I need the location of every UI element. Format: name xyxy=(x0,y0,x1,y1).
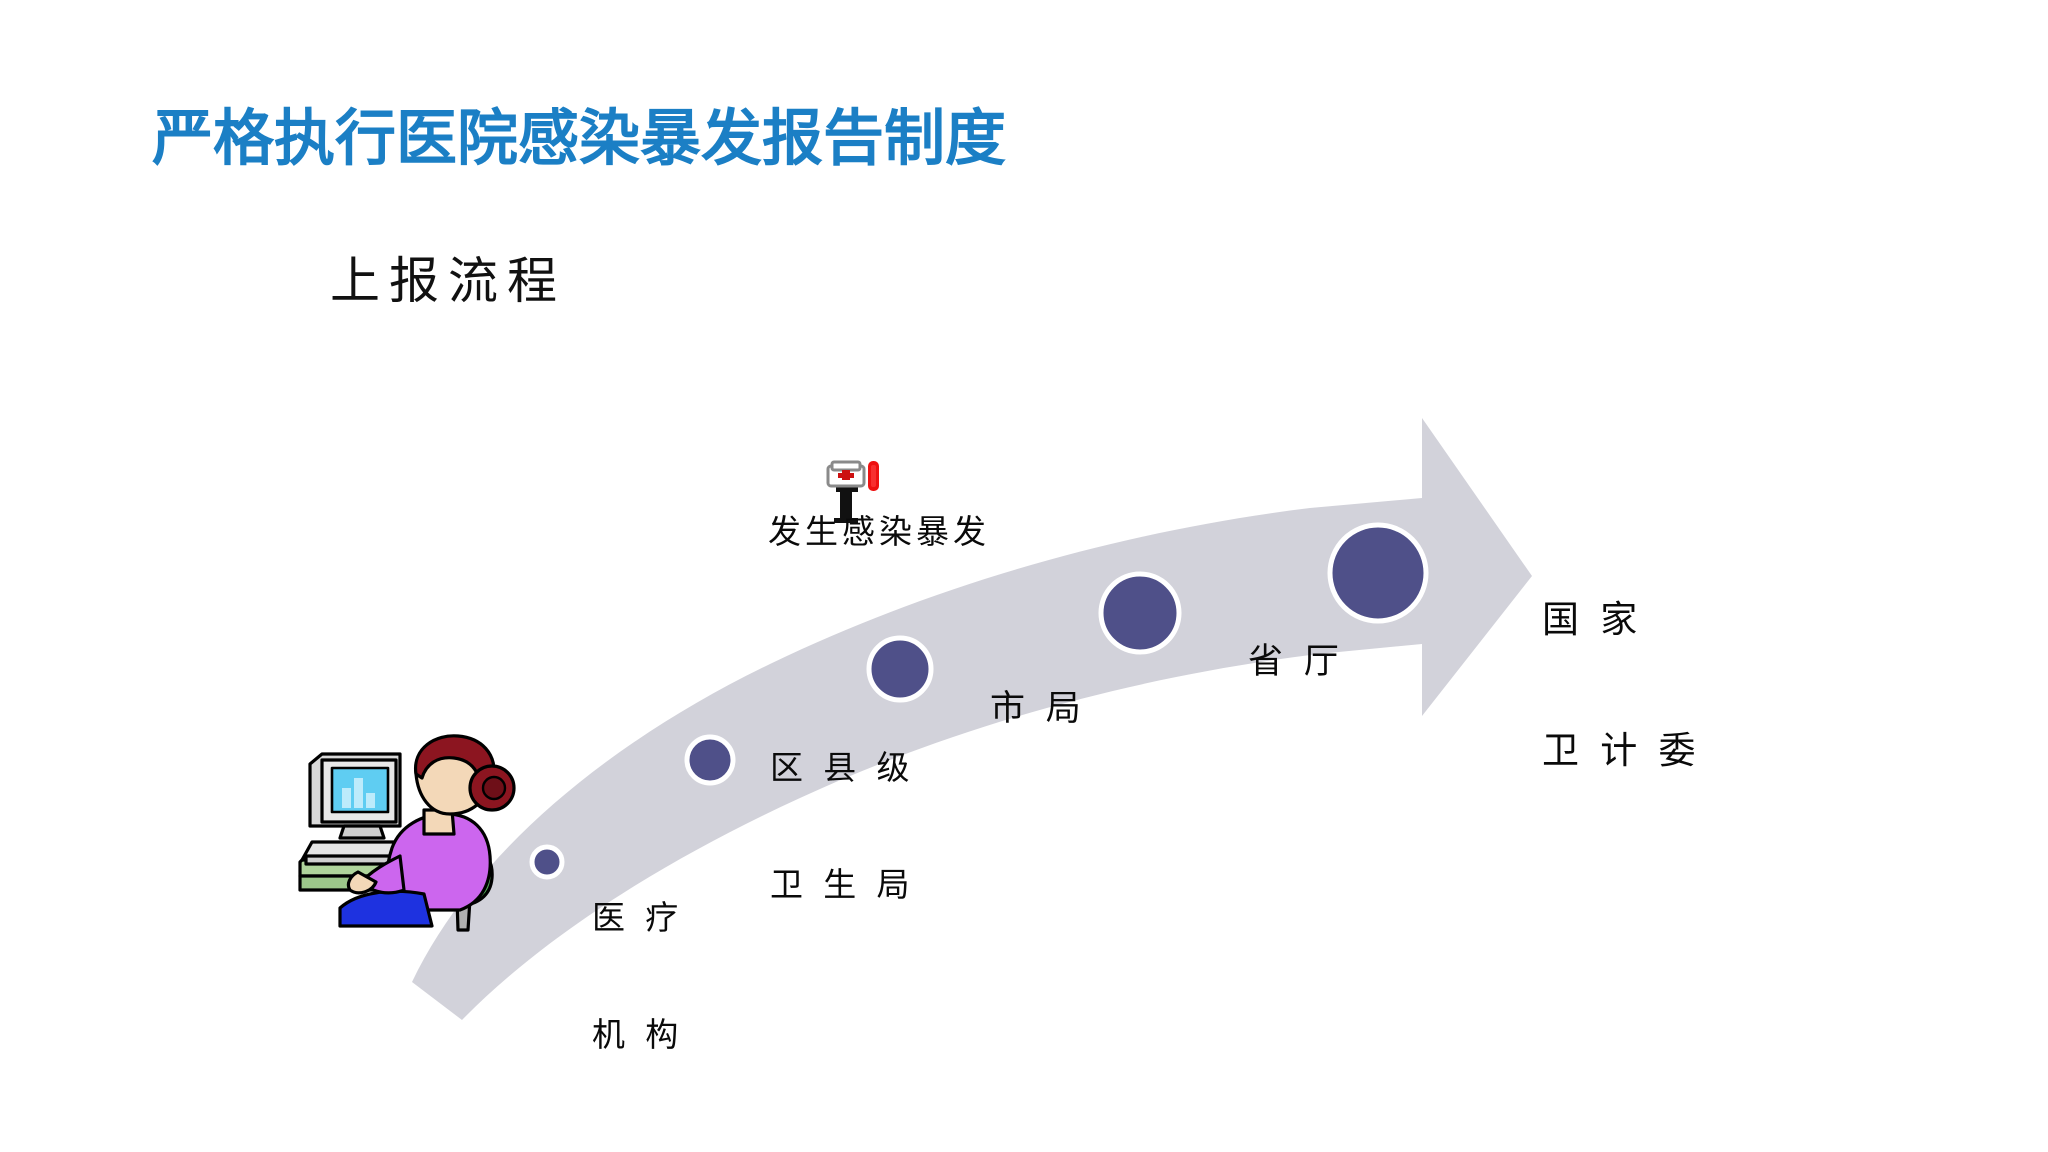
label-district-county-health-bureau: 区 县 级 卫 生 局 xyxy=(770,672,916,984)
label-line-2: 机 构 xyxy=(592,1017,684,1056)
node-medical-institution[interactable] xyxy=(532,847,562,877)
label-line-1: 医 疗 xyxy=(592,900,684,939)
label-line-1: 区 县 级 xyxy=(770,750,916,789)
flow-diagram xyxy=(0,0,2048,1152)
label-outbreak: 发生感染暴发 xyxy=(768,505,990,553)
node-provincial-department[interactable] xyxy=(1101,574,1179,652)
label-line-2: 卫 生 局 xyxy=(770,867,916,906)
label-medical-institution: 医 疗 机 构 xyxy=(592,822,684,1134)
label-line-2: 卫 计 委 xyxy=(1542,730,1702,774)
label-national-health-commission: 国 家 卫 计 委 xyxy=(1542,512,1702,861)
node-district-county-health-bureau[interactable] xyxy=(687,737,733,783)
label-municipal-bureau: 市 局 xyxy=(990,605,1087,811)
slide-canvas: 严格执行医院感染暴发报告制度 上报流程 发生感染暴发 医 xyxy=(0,0,2048,1152)
woman-at-computer-clipart xyxy=(296,730,516,935)
label-provincial-department: 省 厅 xyxy=(1248,558,1345,764)
label-line-1: 国 家 xyxy=(1542,599,1702,643)
label-line-1: 省 厅 xyxy=(1248,641,1345,682)
label-line-1: 市 局 xyxy=(990,688,1087,729)
